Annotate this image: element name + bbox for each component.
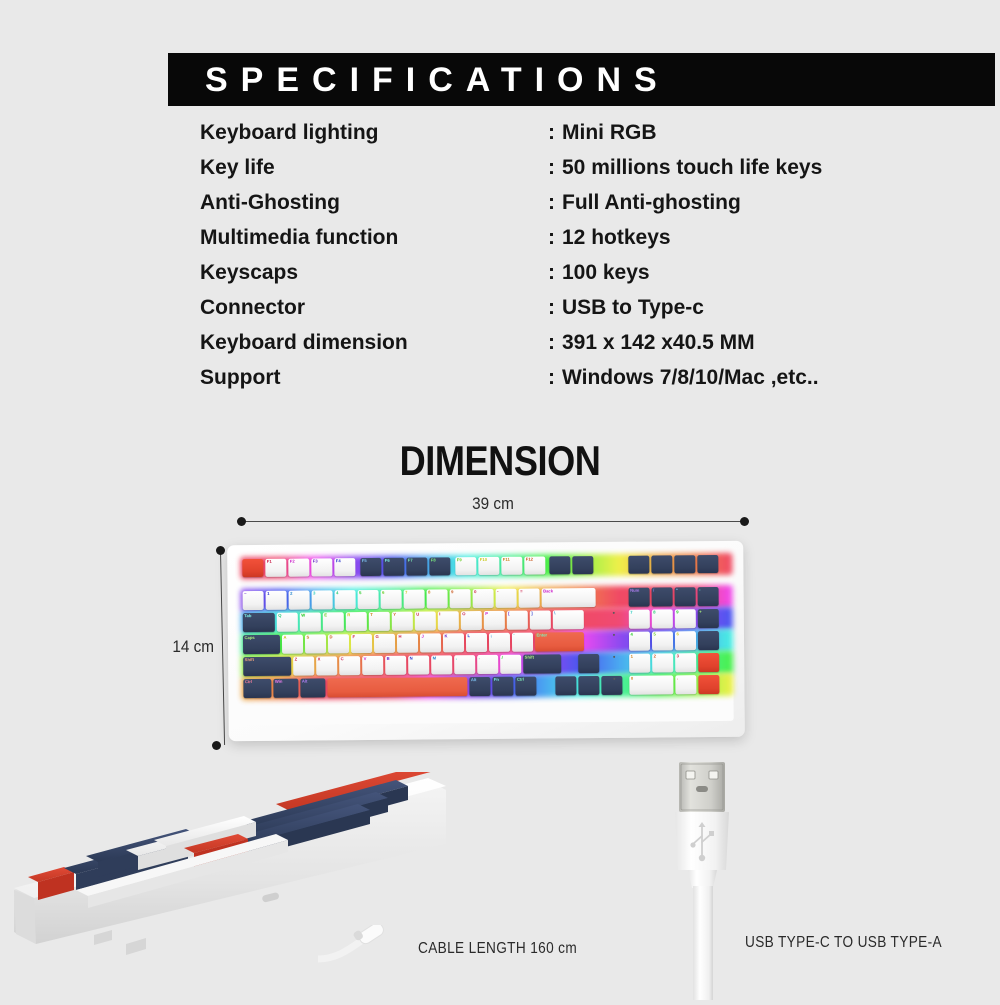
keycap: 9: [675, 609, 696, 628]
specifications-table: Keyboard lighting:Mini RGBKey life:50 mi…: [200, 120, 960, 400]
keycap: 2: [289, 591, 310, 610]
keycap-legend: Win: [275, 679, 283, 684]
spec-row: Multimedia function:12 hotkeys: [200, 225, 960, 260]
keycap-legend: M: [433, 655, 437, 660]
keycap-legend: 0: [474, 589, 476, 594]
keycap: B: [385, 656, 406, 675]
spec-separator: :: [548, 365, 562, 391]
keycap: *: [675, 587, 696, 606]
keycap-legend: Caps: [244, 635, 254, 640]
keycap: [572, 556, 593, 574]
spec-separator: :: [548, 330, 562, 356]
keycap-legend: Num: [630, 588, 639, 593]
keycap: 5: [358, 590, 379, 609]
spec-value: Mini RGB: [562, 120, 960, 146]
keycap-legend: F10: [480, 557, 487, 562]
keycap: F4: [334, 558, 355, 576]
keycap-legend: Q: [278, 613, 281, 618]
spec-label: Key life: [200, 155, 548, 181]
keycap: 2: [652, 653, 673, 672]
keycap: 0: [473, 589, 494, 608]
keycap-legend: F1: [267, 559, 272, 564]
keycap-legend: C: [341, 656, 344, 661]
keycap: O: [461, 611, 482, 630]
usb-c-port: [262, 892, 280, 903]
keycap-legend: F4: [336, 558, 341, 563]
keycap: .: [477, 655, 498, 674]
keycap: ,: [454, 655, 475, 674]
keycap: [698, 653, 719, 672]
keycap: +: [698, 609, 719, 628]
width-measure-endpoint-right: [740, 517, 749, 526]
keycap: [549, 556, 570, 574]
keycap: [578, 676, 599, 695]
keycap: H: [397, 634, 418, 653]
keycap: Alt: [300, 678, 325, 697]
spec-row: Keyboard dimension:391 x 142 x40.5 MM: [200, 330, 960, 365]
keycap: V: [362, 656, 383, 675]
keycap-legend: /: [653, 588, 654, 593]
keycap: F1: [265, 559, 286, 577]
keycap: L: [466, 633, 487, 652]
keycap: F10: [478, 557, 499, 575]
keycap-legend: Ctrl: [517, 677, 524, 682]
keycap-legend: Alt: [302, 679, 308, 684]
width-measure-rule: [242, 521, 744, 522]
keyboard-cable-typec-end: [318, 925, 408, 965]
keycap: W: [300, 612, 321, 631]
spec-label: Keyscaps: [200, 260, 548, 286]
spec-value: 12 hotkeys: [562, 225, 960, 251]
keycap-legend: Enter: [536, 632, 547, 637]
height-measure-endpoint-top: [216, 546, 225, 555]
keycap-legend: 9: [676, 609, 678, 614]
keycap: Fn: [492, 677, 513, 696]
keycap-legend: -: [497, 589, 498, 594]
keycap-legend: L: [467, 633, 470, 638]
keycap: 0: [629, 675, 673, 694]
spec-separator: :: [548, 260, 562, 286]
keycap-legend: -: [699, 587, 700, 592]
keycap: Caps: [243, 635, 280, 654]
keycap-legend: F2: [290, 559, 295, 564]
keycap: ': [512, 633, 533, 652]
keycap-legend: ]: [531, 611, 532, 616]
keycap-legend: F12: [526, 557, 533, 562]
keycap-legend: 4: [336, 590, 338, 595]
keycap-legend: =: [520, 589, 522, 594]
keycap-legend: 2: [290, 591, 292, 596]
keycap-legend: +: [699, 609, 701, 614]
keycap-legend: K: [444, 633, 447, 638]
keycap: Ctrl: [243, 679, 271, 698]
indicator-led: [613, 634, 615, 636]
keycap: K: [443, 633, 464, 652]
width-measure-endpoint-left: [237, 517, 246, 526]
keycap: 6: [381, 590, 402, 609]
keycap-legend: P: [485, 611, 488, 616]
usb-type-a-cable-image: [660, 758, 780, 1000]
keycap: 1: [629, 654, 650, 673]
keycap-legend: 0: [631, 676, 633, 681]
keycap: U: [415, 611, 436, 630]
keycap-legend: T: [370, 612, 373, 617]
indicator-led: [613, 612, 615, 614]
width-measure-line: 39 cm: [238, 520, 748, 522]
keyboard-plate: F1F2F3F4F5F6F7F8F9F10F11F12~1234567890-=…: [240, 551, 733, 725]
keycap-legend: .: [479, 655, 480, 660]
keycap: [327, 677, 467, 697]
spec-row: Connector:USB to Type-c: [200, 295, 960, 330]
keycap: 7: [629, 610, 650, 629]
keycap: 8: [652, 609, 673, 628]
keycap: [651, 555, 672, 573]
keycap-legend: J: [421, 634, 423, 639]
keycap: Shift: [243, 657, 291, 676]
spec-value: Full Anti-ghosting: [562, 190, 960, 216]
keycap: S: [305, 634, 326, 653]
spec-label: Multimedia function: [200, 225, 548, 251]
keycap-legend: N: [410, 656, 413, 661]
keycap: [578, 654, 599, 673]
keycap: E: [323, 612, 344, 631]
spec-row: Key life:50 millions touch life keys: [200, 155, 960, 190]
keycap: R: [346, 612, 367, 631]
keycap: M: [431, 655, 452, 674]
spec-row: Keyboard lighting:Mini RGB: [200, 120, 960, 155]
keycap-legend: 5: [359, 590, 361, 595]
keycap-legend: S: [306, 635, 309, 640]
width-measure-label: 39 cm: [264, 494, 723, 514]
keycap: ~: [243, 591, 264, 610]
keycap: [674, 555, 695, 573]
keycap-legend: 3: [677, 653, 679, 658]
spec-separator: :: [548, 295, 562, 321]
keycap: D: [328, 634, 349, 653]
keycap: [: [507, 611, 528, 630]
keycap-legend: A: [283, 635, 286, 640]
keycap: -: [496, 589, 517, 608]
height-measure-rule: [220, 551, 225, 745]
keycap-legend: U: [416, 612, 419, 617]
height-measure-label: 14 cm: [172, 637, 214, 657]
spec-value: USB to Type-c: [562, 295, 960, 321]
keycap: P: [484, 611, 505, 630]
keycap-legend: 9: [451, 589, 453, 594]
keycap: 8: [427, 589, 448, 608]
keycap-legend: 8: [653, 610, 655, 615]
usb-type-caption: USB TYPE-C TO USB TYPE-A: [745, 934, 942, 952]
keycap-legend: V: [364, 656, 367, 661]
keycap-legend: Tab: [244, 613, 251, 618]
keycap: [697, 555, 718, 573]
keycap: [698, 631, 719, 650]
keycap-legend: ': [513, 633, 514, 638]
keycap: 5: [652, 631, 673, 650]
keycap-legend: F8: [431, 557, 436, 562]
keycap: F9: [455, 557, 476, 575]
keycap-legend: Fn: [494, 677, 499, 682]
keycap-legend: F5: [362, 558, 367, 563]
specifications-header-bar: SPECIFICATIONS: [168, 53, 995, 106]
spec-row: Keyscaps:100 keys: [200, 260, 960, 295]
keycap: 3: [675, 653, 696, 672]
keycap: J: [420, 633, 441, 652]
keycap: I: [438, 611, 459, 630]
keycap-legend: Z: [295, 657, 298, 662]
keycap-legend: Back: [543, 588, 553, 593]
keycap: Tab: [243, 613, 275, 632]
spec-label: Anti-Ghosting: [200, 190, 548, 216]
keycap-legend: O: [462, 611, 465, 616]
keycap: [555, 676, 576, 695]
keycap-legend: 1: [267, 591, 269, 596]
spec-row: Support:Windows 7/8/10/Mac ,etc..: [200, 365, 960, 400]
spec-value: 391 x 142 x40.5 MM: [562, 330, 960, 356]
keycap-legend: \: [554, 610, 555, 615]
keycap-legend: F: [352, 634, 355, 639]
keycap: C: [339, 656, 360, 675]
keycap: Alt: [469, 677, 490, 696]
keycap-legend: 4: [630, 632, 632, 637]
keycap-legend: ,: [456, 655, 457, 660]
height-measure-line: 14 cm: [216, 547, 218, 749]
keycap: 7: [404, 590, 425, 609]
cable-length-caption: CABLE LENGTH 160 cm: [418, 940, 577, 958]
keycap: Shift: [523, 654, 561, 673]
keycap: [628, 556, 649, 574]
spec-row: Anti-Ghosting:Full Anti-ghosting: [200, 190, 960, 225]
keycap-legend: *: [676, 587, 678, 592]
keycap-legend: B: [387, 656, 390, 661]
keycap-legend: 7: [405, 590, 407, 595]
spec-label: Keyboard lighting: [200, 120, 548, 146]
height-measure-endpoint-bottom: [212, 741, 221, 750]
spec-separator: :: [548, 120, 562, 146]
keycap: 3: [312, 590, 333, 609]
keycap: Win: [273, 679, 298, 698]
spec-value: Windows 7/8/10/Mac ,etc..: [562, 365, 960, 391]
usb-cord: [693, 886, 713, 1000]
keycap: G: [374, 634, 395, 653]
spec-label: Keyboard dimension: [200, 330, 548, 356]
keycap: 4: [335, 590, 356, 609]
keycap-legend: Ctrl: [245, 679, 252, 684]
keycap: F6: [383, 558, 404, 576]
spec-value: 100 keys: [562, 260, 960, 286]
keycap-legend: [: [508, 611, 509, 616]
keycap-legend: R: [347, 612, 350, 617]
keycap: F5: [360, 558, 381, 576]
keycap-legend: W: [301, 613, 305, 618]
keycap-legend: E: [324, 612, 327, 617]
keycap-legend: Y: [393, 612, 396, 617]
keycap-legend: 1: [631, 654, 633, 659]
keycap: [242, 559, 263, 577]
keycap-legend: Shift: [245, 657, 254, 662]
keycap: Ctrl: [515, 677, 536, 696]
spec-label: Support: [200, 365, 548, 391]
keycap: X: [316, 656, 337, 675]
keycap-legend: ;: [490, 633, 491, 638]
keycap: F12: [524, 556, 545, 574]
spec-value: 50 millions touch life keys: [562, 155, 960, 181]
page-title: SPECIFICATIONS: [168, 63, 670, 97]
keycap: =: [519, 589, 540, 608]
keycap: Back: [542, 588, 596, 607]
spec-separator: :: [548, 190, 562, 216]
keycap-legend: F3: [313, 558, 318, 563]
keycap: \: [553, 610, 584, 629]
dimension-section-title: DIMENSION: [70, 437, 930, 485]
keycap: /: [652, 587, 673, 606]
keycap: 4: [629, 632, 650, 651]
keyboard-top-view-image: F1F2F3F4F5F6F7F8F9F10F11F12~1234567890-=…: [227, 541, 745, 741]
indicator-led: [613, 656, 615, 658]
keycap-legend: 2: [654, 654, 656, 659]
keycap-legend: .: [677, 675, 678, 680]
keycap: Q: [277, 613, 298, 632]
keycap: [698, 675, 719, 694]
keycap: /: [500, 655, 521, 674]
keycap-legend: 6: [382, 590, 384, 595]
keycap-legend: F6: [385, 558, 390, 563]
keycap: ]: [530, 610, 551, 629]
keycap-legend: 6: [676, 631, 678, 636]
keycap: 6: [675, 631, 696, 650]
spec-separator: :: [548, 225, 562, 251]
keycap: -: [698, 587, 719, 606]
keycap: N: [408, 655, 429, 674]
keycap-legend: Shift: [525, 655, 534, 660]
keycap: [601, 676, 622, 695]
keycap: 9: [450, 589, 471, 608]
keycap: A: [282, 635, 303, 654]
keycap: Z: [293, 657, 314, 676]
keycap-legend: 3: [313, 590, 315, 595]
keycap-legend: F7: [408, 558, 413, 563]
keycap-legend: 8: [428, 589, 430, 594]
keycap-legend: ~: [244, 591, 246, 596]
keycap: Enter: [535, 632, 584, 651]
keycap-legend: F11: [503, 557, 510, 562]
keycap: F11: [501, 557, 522, 575]
keycap: 1: [266, 591, 287, 610]
keycap: T: [369, 612, 390, 631]
keycap-legend: 5: [653, 632, 655, 637]
spec-label: Connector: [200, 295, 548, 321]
usb-strain-relief: [688, 870, 717, 888]
keycap: Y: [392, 612, 413, 631]
keycap-legend: D: [329, 634, 332, 639]
keycap: F3: [311, 558, 332, 576]
keycap: Num: [629, 588, 650, 607]
keycap-legend: G: [375, 634, 378, 639]
keycap-legend: 7: [630, 610, 632, 615]
keycap: F7: [406, 558, 427, 576]
keycap: F8: [429, 557, 450, 575]
indicator-led: [613, 678, 615, 680]
keycap-legend: X: [318, 656, 321, 661]
keycap: F2: [288, 559, 309, 577]
keycap: ;: [489, 633, 510, 652]
keycap: .: [675, 675, 696, 694]
keycap-legend: F9: [457, 557, 462, 562]
keycap-legend: Alt: [471, 677, 477, 682]
keycap-legend: H: [398, 634, 401, 639]
keycap: F: [351, 634, 372, 653]
keycap-legend: /: [502, 655, 503, 660]
spec-separator: :: [548, 155, 562, 181]
keycap-legend: I: [439, 611, 440, 616]
